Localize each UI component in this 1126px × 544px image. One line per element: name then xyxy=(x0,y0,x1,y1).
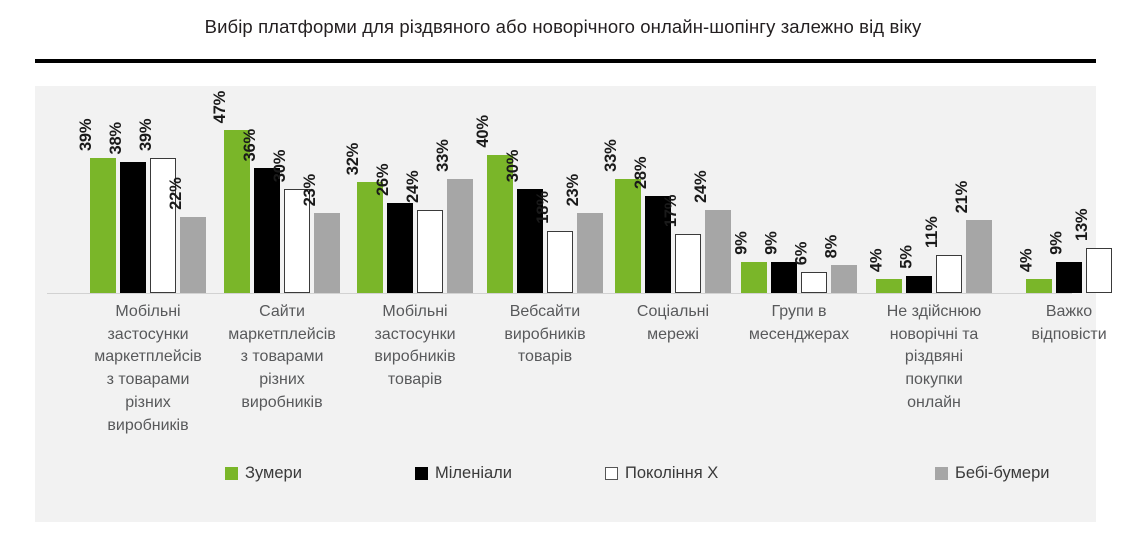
bar-boomers[interactable] xyxy=(180,217,206,293)
bar-genx[interactable] xyxy=(1086,248,1112,293)
bar-value-label: 47% xyxy=(211,91,230,123)
bar-genx[interactable] xyxy=(547,231,573,293)
bar-mil[interactable] xyxy=(387,203,413,293)
bar-item[interactable]: 36% xyxy=(254,86,280,293)
bar-item[interactable]: 22% xyxy=(180,86,206,293)
bar-value-label: 9% xyxy=(732,231,751,254)
bar-value-label: 4% xyxy=(867,249,886,272)
bar-item[interactable]: 23% xyxy=(577,86,603,293)
bar-zoomers[interactable] xyxy=(1026,279,1052,293)
bar-item[interactable]: 4% xyxy=(876,86,902,293)
bar-item[interactable]: 24% xyxy=(417,86,443,293)
category-label: Вебсайти виробників товарів xyxy=(478,301,612,369)
bar-boomers[interactable] xyxy=(314,213,340,293)
chart-title: Вибір платформи для різдвяного або новор… xyxy=(0,16,1126,38)
title-divider-rule xyxy=(35,59,1096,63)
bar-item[interactable]: 9% xyxy=(1056,86,1082,293)
bar-boomers[interactable] xyxy=(705,210,731,293)
bar-zoomers[interactable] xyxy=(615,179,641,293)
bar-item[interactable]: 33% xyxy=(447,86,473,293)
bar-value-label: 32% xyxy=(344,143,363,175)
bar-item[interactable]: 8% xyxy=(831,86,857,293)
legend-label: Покоління X xyxy=(625,464,718,483)
legend-label: Міленіали xyxy=(435,464,512,483)
bar-group: 9%9%6%8% xyxy=(736,86,862,293)
bar-item[interactable]: 30% xyxy=(284,86,310,293)
legend-item-boomers[interactable]: Бебі-бумери xyxy=(935,464,1050,483)
bar-zoomers[interactable] xyxy=(876,279,902,293)
legend-swatch-icon xyxy=(415,467,428,480)
bar-item[interactable]: 47% xyxy=(224,86,250,293)
bar-item[interactable]: 9% xyxy=(741,86,767,293)
bar-item[interactable]: 4% xyxy=(1026,86,1052,293)
bar-mil[interactable] xyxy=(120,162,146,293)
bar-item[interactable]: 9% xyxy=(771,86,797,293)
bar-zoomers[interactable] xyxy=(90,158,116,293)
bar-item[interactable]: 18% xyxy=(547,86,573,293)
bar-value-label: 39% xyxy=(77,119,96,151)
bar-mil[interactable] xyxy=(254,168,280,293)
category-label: Соціальні мережі xyxy=(606,301,740,346)
legend-label: Зумери xyxy=(245,464,302,483)
category-label: Важко відповісти xyxy=(1002,301,1126,346)
bar-group: 39%38%39%22% xyxy=(85,86,211,293)
category-axis-labels: Мобільні застосунки маркетплейсів з това… xyxy=(35,301,1096,451)
bar-group: 40%30%18%23% xyxy=(482,86,608,293)
bar-item[interactable]: 33% xyxy=(615,86,641,293)
bar-value-label: 4% xyxy=(1017,249,1036,272)
bar-genx[interactable] xyxy=(675,234,701,293)
bar-item[interactable]: 30% xyxy=(517,86,543,293)
bar-mil[interactable] xyxy=(771,262,797,293)
category-label: Мобільні застосунки виробників товарів xyxy=(348,301,482,392)
bar-group: 4%5%11%21% xyxy=(871,86,997,293)
bar-genx[interactable] xyxy=(801,272,827,293)
bar-zoomers[interactable] xyxy=(357,182,383,293)
bar-group: 33%28%17%24% xyxy=(610,86,736,293)
bar-item[interactable]: 23% xyxy=(314,86,340,293)
bar-group: 47%36%30%23% xyxy=(219,86,345,293)
bar-zoomers[interactable] xyxy=(741,262,767,293)
bar-genx[interactable] xyxy=(284,189,310,293)
bar-mil[interactable] xyxy=(645,196,671,293)
bar-genx[interactable] xyxy=(417,210,443,293)
legend-item-zoomers[interactable]: Зумери xyxy=(225,464,302,483)
category-label: Групи в месенджерах xyxy=(732,301,866,346)
bar-item[interactable]: 26% xyxy=(387,86,413,293)
bar-mil[interactable] xyxy=(906,276,932,293)
bars-area: 39%38%39%22%47%36%30%23%32%26%24%33%40%3… xyxy=(35,86,1096,293)
bar-item[interactable]: 13% xyxy=(1086,86,1112,293)
category-label: Мобільні застосунки маркетплейсів з това… xyxy=(81,301,215,437)
legend-item-genx[interactable]: Покоління X xyxy=(605,464,718,483)
bar-mil[interactable] xyxy=(1056,262,1082,293)
bar-boomers[interactable] xyxy=(831,265,857,293)
bar-item[interactable]: 11% xyxy=(936,86,962,293)
bar-boomers[interactable] xyxy=(577,213,603,293)
bar-mil[interactable] xyxy=(517,189,543,293)
bar-item[interactable]: 40% xyxy=(487,86,513,293)
bar-item[interactable]: 38% xyxy=(120,86,146,293)
bar-item[interactable]: 21% xyxy=(966,86,992,293)
bar-item[interactable]: 5% xyxy=(906,86,932,293)
bar-zoomers[interactable] xyxy=(224,130,250,293)
bar-item[interactable]: 17% xyxy=(675,86,701,293)
chart-legend: ЗумериМіленіалиПокоління XБебі-бумери xyxy=(35,464,1096,498)
category-label: Сайти маркетплейсів з товарами різних ви… xyxy=(215,301,349,415)
bar-genx[interactable] xyxy=(936,255,962,293)
bar-item[interactable]: 28% xyxy=(645,86,671,293)
bar-item[interactable]: 32% xyxy=(357,86,383,293)
bar-group: 4%9%13% xyxy=(1006,86,1126,293)
bar-item[interactable]: 24% xyxy=(705,86,731,293)
legend-swatch-icon xyxy=(225,467,238,480)
legend-item-mil[interactable]: Міленіали xyxy=(415,464,512,483)
bar-boomers[interactable] xyxy=(447,179,473,293)
bar-genx[interactable] xyxy=(150,158,176,293)
category-label: Не здійснюю новорічні та різдвяні покупк… xyxy=(867,301,1001,415)
legend-swatch-icon xyxy=(935,467,948,480)
bar-group: 32%26%24%33% xyxy=(352,86,478,293)
chart-plot-panel: 39%38%39%22%47%36%30%23%32%26%24%33%40%3… xyxy=(35,86,1096,522)
legend-label: Бебі-бумери xyxy=(955,464,1050,483)
bar-boomers[interactable] xyxy=(966,220,992,293)
bar-zoomers[interactable] xyxy=(487,155,513,293)
bar-item[interactable]: 39% xyxy=(150,86,176,293)
legend-swatch-icon xyxy=(605,467,618,480)
bar-item[interactable]: 39% xyxy=(90,86,116,293)
bar-item[interactable]: 6% xyxy=(801,86,827,293)
